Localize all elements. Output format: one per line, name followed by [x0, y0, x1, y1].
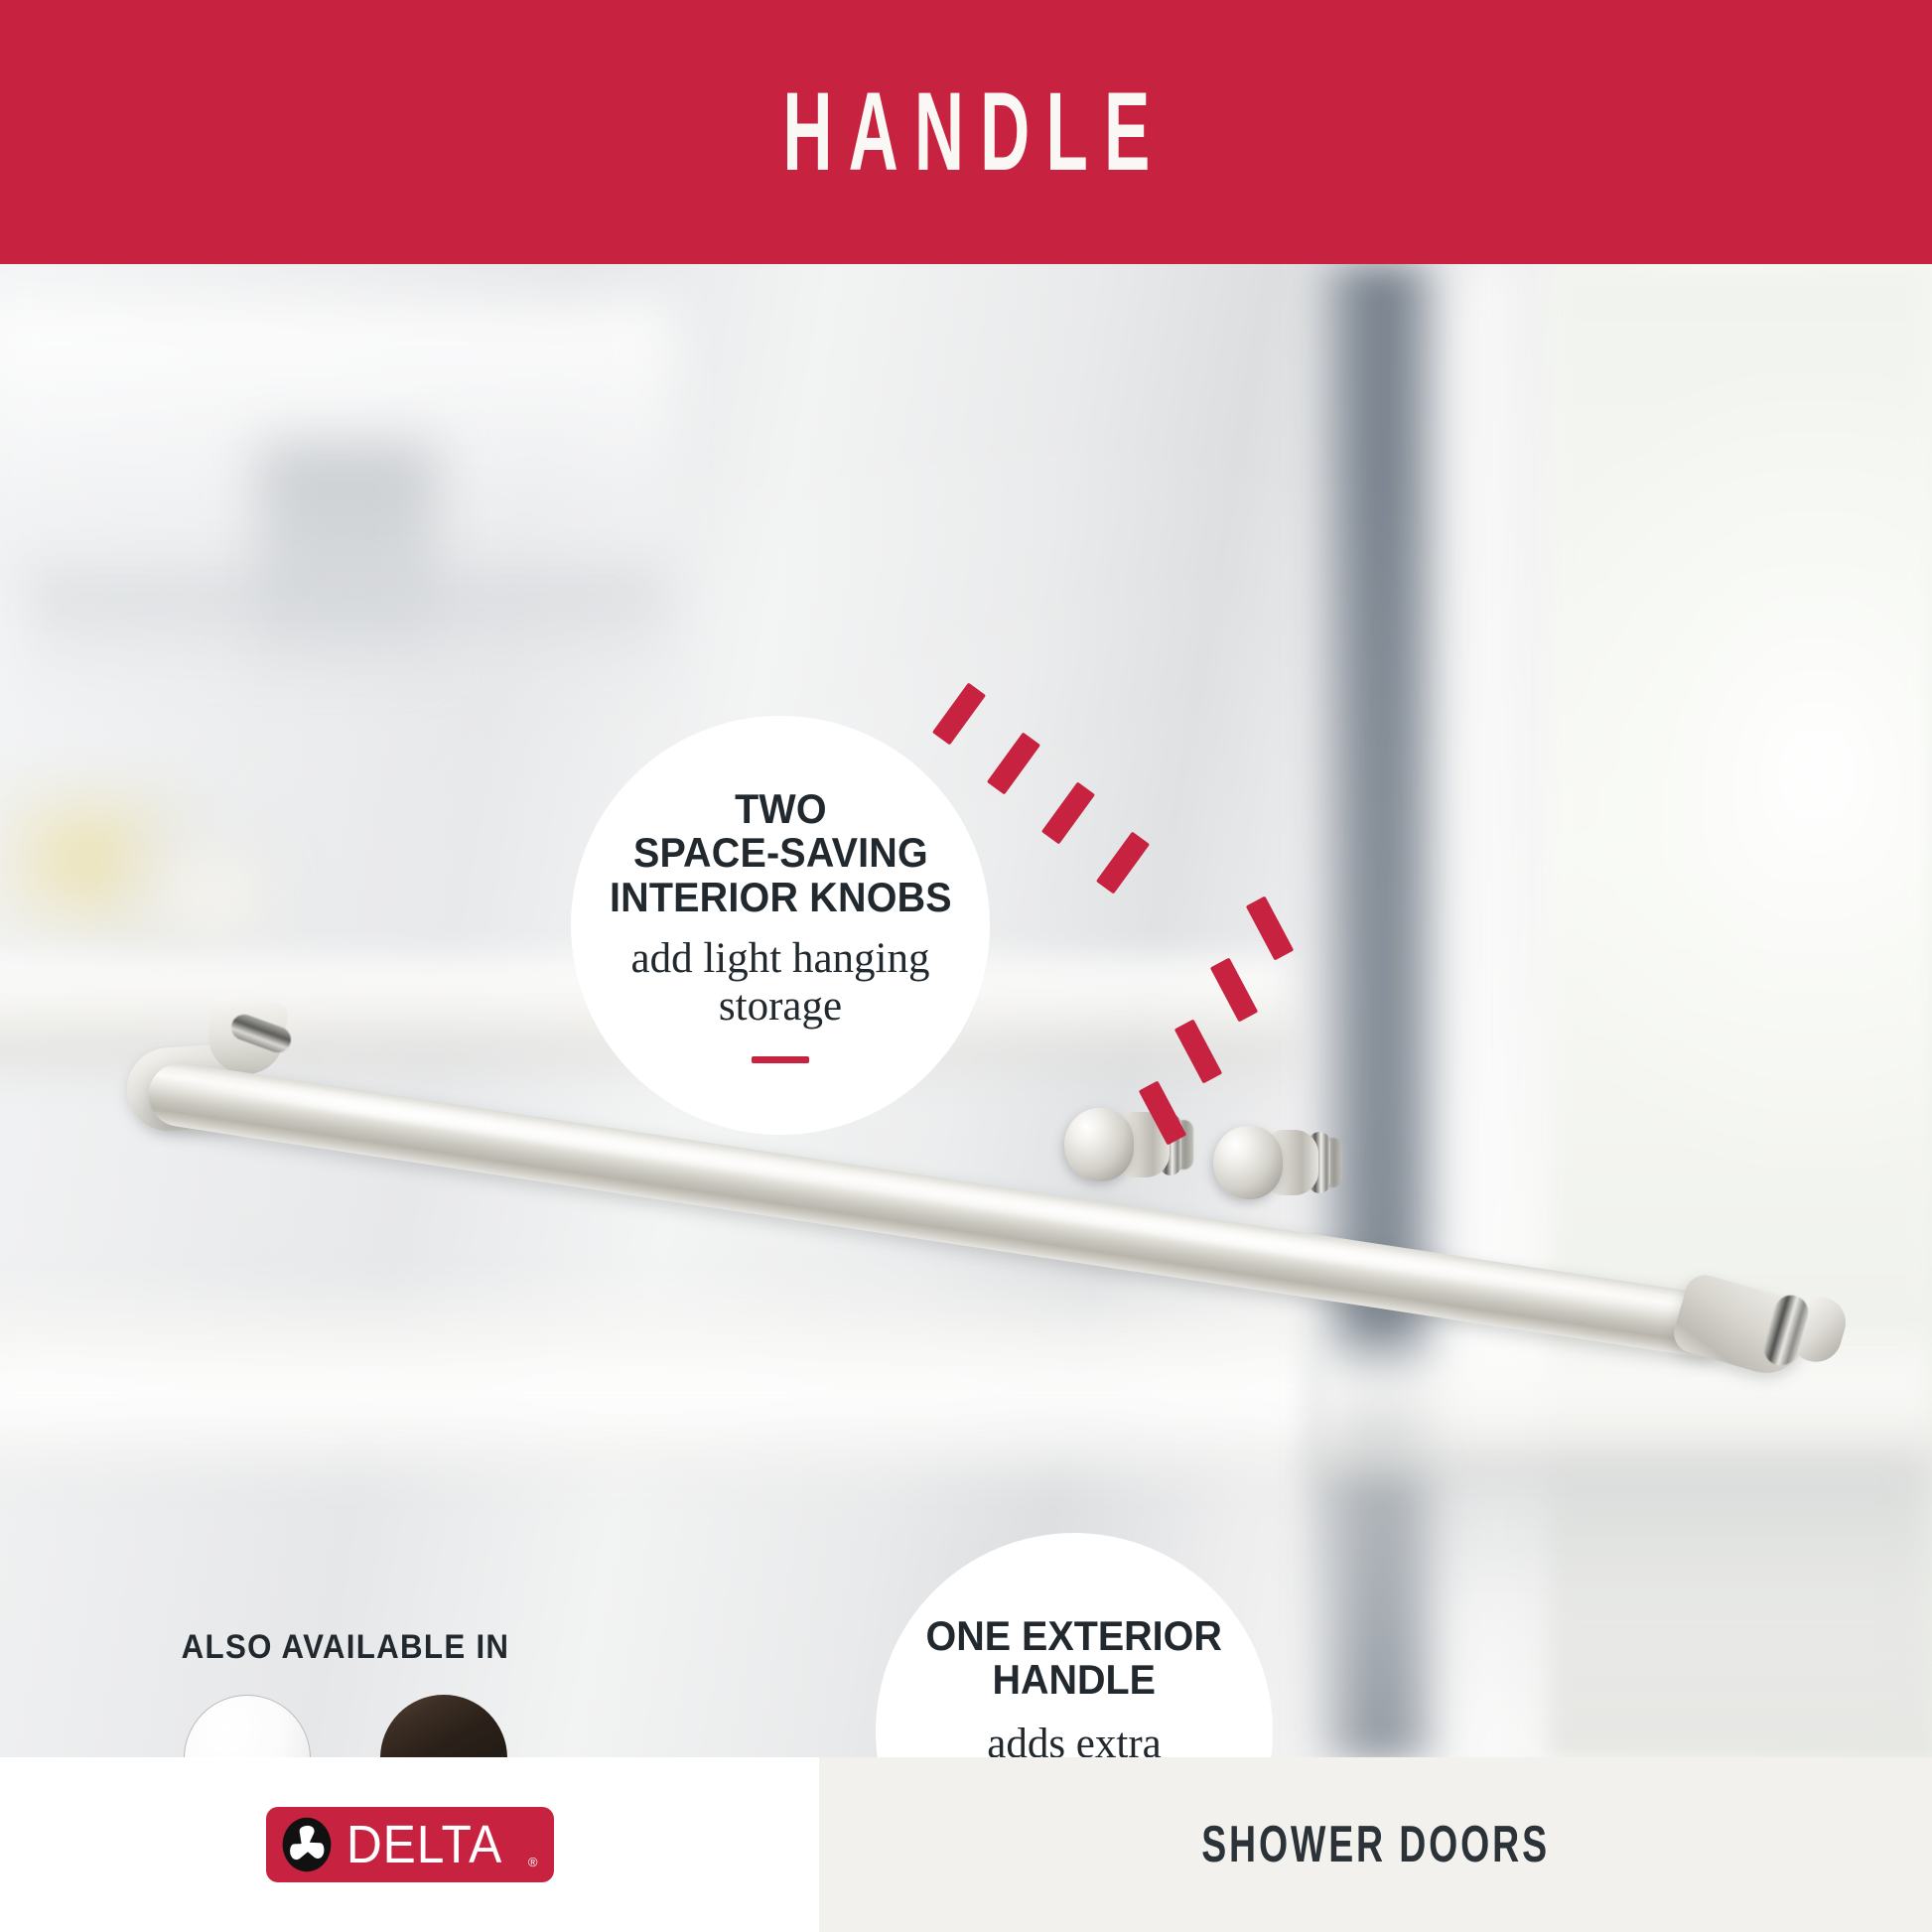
product-photo-stage: TWO SPACE-SAVING INTERIOR KNOBS add ligh…	[0, 264, 1932, 1757]
header-banner: HANDLE	[0, 0, 1932, 264]
registered-trademark-icon: ®	[528, 1856, 538, 1868]
callout-accent-rule	[752, 1056, 809, 1063]
page-title: HANDLE	[766, 76, 1166, 188]
delta-logo[interactable]: DELTA ®	[266, 1807, 554, 1882]
callout-headline: TWO SPACE-SAVING INTERIOR KNOBS	[610, 787, 952, 920]
available-finishes: ALSO AVAILABLE IN CHROME BRONZE	[147, 1628, 544, 1757]
footer-tagline: SHOWER DOORS	[1201, 1815, 1550, 1874]
callout-interior-knobs: TWO SPACE-SAVING INTERIOR KNOBS add ligh…	[571, 716, 990, 1135]
footer-bar: DELTA ® SHOWER DOORS	[0, 1757, 1932, 1932]
finish-swatch-row: CHROME BRONZE	[147, 1695, 544, 1757]
delta-triangle-mark-icon	[278, 1816, 336, 1873]
available-finishes-label: ALSO AVAILABLE IN	[163, 1628, 528, 1667]
knob-dome	[1213, 1126, 1283, 1199]
handle-bar-highlight	[158, 1070, 1711, 1318]
finish-swatch-chrome-icon	[184, 1695, 311, 1757]
callout-subline: adds extra towel storage	[960, 1721, 1188, 1757]
product-feature-graphic: HANDLE	[0, 0, 1932, 1932]
delta-wordmark: DELTA	[345, 1818, 501, 1871]
callout-subline: add light hanging storage	[631, 935, 930, 1031]
interior-knob-2	[1213, 1120, 1344, 1209]
footer-tagline-area: SHOWER DOORS	[819, 1757, 1932, 1932]
finish-option-bronze[interactable]: BRONZE	[373, 1695, 514, 1757]
footer-brand-area: DELTA ®	[0, 1757, 819, 1932]
knob-dome	[1064, 1108, 1134, 1181]
callout-headline: ONE EXTERIOR HANDLE	[926, 1614, 1222, 1703]
finish-swatch-bronze-icon	[380, 1695, 507, 1757]
finish-option-chrome[interactable]: CHROME	[177, 1695, 318, 1757]
